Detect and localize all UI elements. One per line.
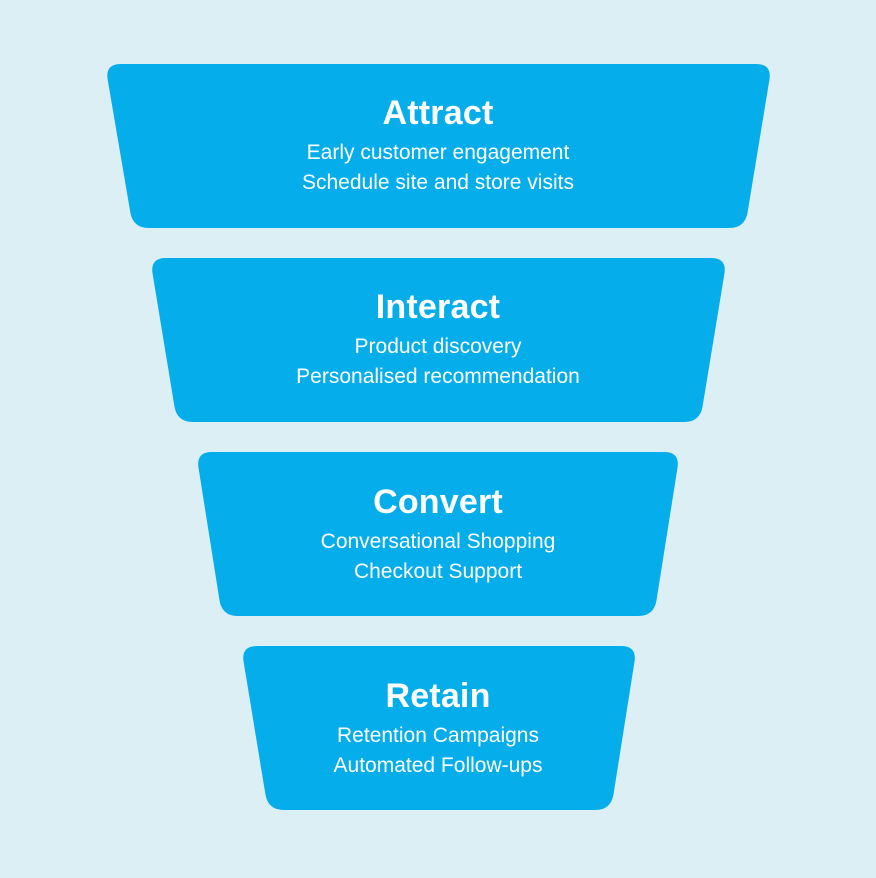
funnel-stage-text: RetainRetention CampaignsAutomated Follo… <box>0 675 876 781</box>
funnel-diagram: AttractEarly customer engagementSchedule… <box>0 0 876 878</box>
funnel-stage-description-line: Automated Follow-ups <box>0 751 876 781</box>
funnel-stage-description: Retention CampaignsAutomated Follow-ups <box>0 721 876 781</box>
funnel-stage-description-line: Retention Campaigns <box>0 721 876 751</box>
funnel-stage-title: Retain <box>0 675 876 717</box>
